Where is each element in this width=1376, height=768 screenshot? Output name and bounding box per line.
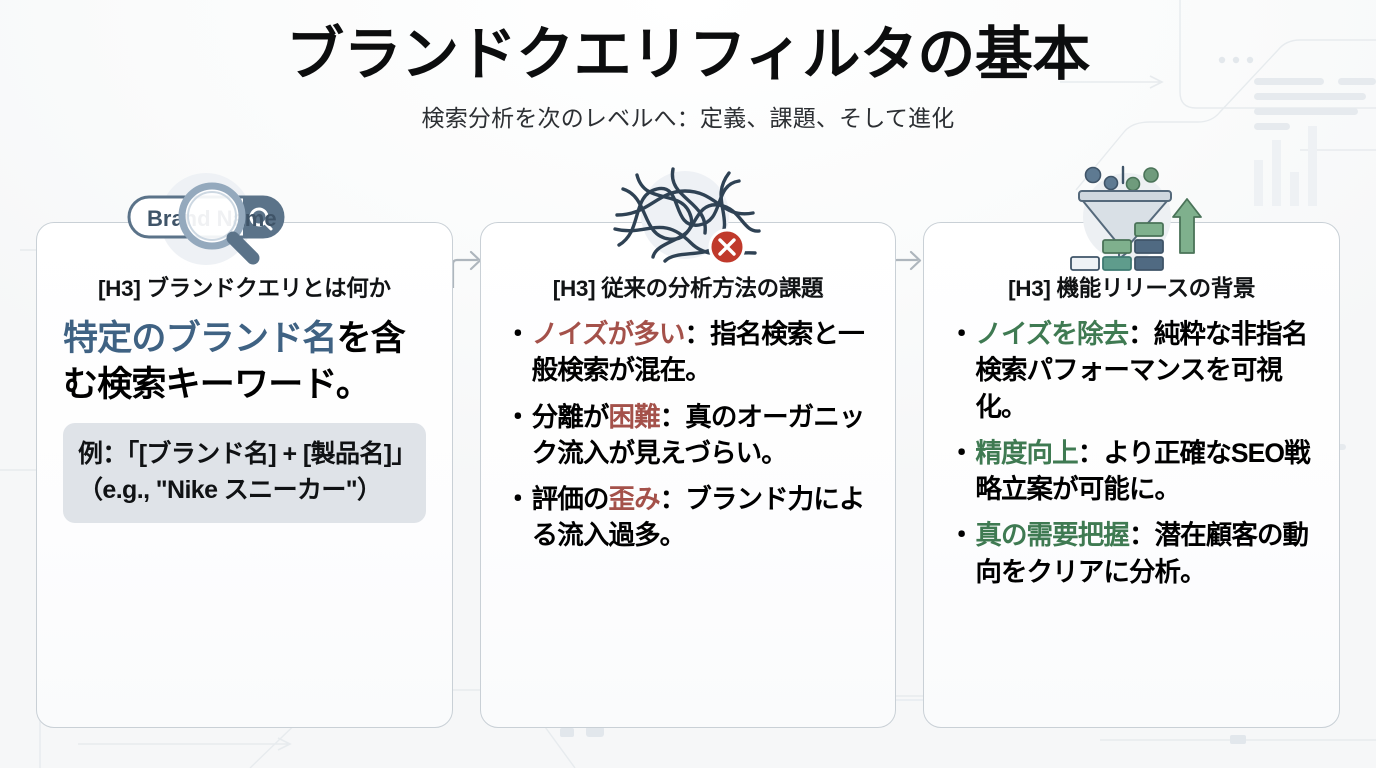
search-bar-magnifier-icon: Brand Name: [111, 161, 301, 271]
list-item: ノイズを除去：純粋な非指名検索パフォーマンスを可視化。: [950, 316, 1313, 425]
page-title: ブランドクエリフィルタの基本: [0, 22, 1376, 89]
funnel-chart-uparrow-icon: [1057, 161, 1207, 271]
card-heading: [H3] 従来の分析方法の課題: [507, 275, 870, 302]
bullet-prefix: 評価の: [532, 484, 609, 514]
bullet-keyword: ノイズを除去: [975, 319, 1128, 349]
problem-bullet-list: ノイズが多い：指名検索と一般検索が混在。 分離が困難：真のオーガニック流入が見え…: [507, 316, 870, 554]
card-feature-release-background[interactable]: [H3] 機能リリースの背景 ノイズを除去：純粋な非指名検索パフォーマンスを可視…: [923, 222, 1340, 728]
card-lead-text: 特定のブランド名を含む検索キーワード。: [63, 316, 426, 407]
card-brand-query-definition[interactable]: Brand Name [H3] ブランドクエリとは何か 特定のブランド名を含む検…: [36, 222, 453, 728]
tangled-lines-error-icon: [613, 161, 763, 271]
bullet-prefix: 分離が: [532, 402, 609, 432]
svg-text:Brand Name: Brand Name: [147, 206, 277, 231]
list-item: 精度向上：より正確なSEO戦略立案が可能に。: [950, 435, 1313, 508]
benefit-bullet-list: ノイズを除去：純粋な非指名検索パフォーマンスを可視化。 精度向上：より正確なSE…: [950, 316, 1313, 590]
page-subtitle: 検索分析を次のレベルへ：定義、課題、そして進化: [0, 99, 1376, 133]
list-item: 真の需要把握：潜在顧客の動向をクリアに分析。: [950, 517, 1313, 590]
example-box: 例：「[ブランド名] + [製品名]」（e.g., "Nike スニーカー"）: [63, 423, 426, 523]
bullet-keyword: 困難: [608, 402, 659, 432]
bullet-keyword: ノイズが多い: [532, 319, 685, 349]
lead-highlight: 特定のブランド名: [63, 319, 337, 358]
card-heading: [H3] ブランドクエリとは何か: [63, 275, 426, 302]
slide-canvas: ブランドクエリフィルタの基本 検索分析を次のレベルへ：定義、課題、そして進化: [0, 0, 1376, 768]
list-item: 分離が困難：真のオーガニック流入が見えづらい。: [507, 399, 870, 472]
card-heading: [H3] 機能リリースの背景: [950, 275, 1313, 302]
bullet-keyword: 精度向上: [975, 438, 1077, 468]
card-row: Brand Name [H3] ブランドクエリとは何か 特定のブランド名を含む検…: [36, 222, 1340, 728]
slide-header: ブランドクエリフィルタの基本 検索分析を次のレベルへ：定義、課題、そして進化: [0, 0, 1376, 133]
list-item: ノイズが多い：指名検索と一般検索が混在。: [507, 316, 870, 389]
bullet-keyword: 歪み: [608, 484, 659, 514]
bullet-keyword: 真の需要把握: [975, 520, 1129, 550]
card-traditional-analysis-problems[interactable]: [H3] 従来の分析方法の課題 ノイズが多い：指名検索と一般検索が混在。 分離が…: [480, 222, 897, 728]
list-item: 評価の歪み：ブランド力による流入過多。: [507, 481, 870, 554]
